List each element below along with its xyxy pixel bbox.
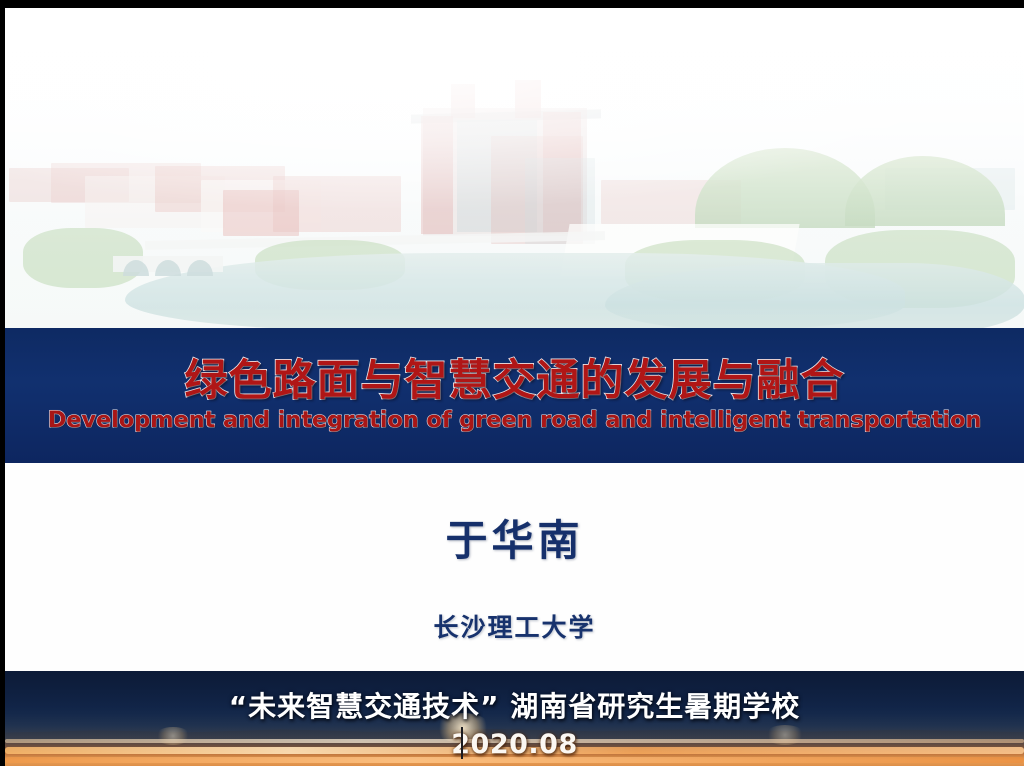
- event-title: “未来智慧交通技术” 湖南省研究生暑期学校: [5, 685, 1024, 725]
- night-highway-photo: “未来智慧交通技术” 湖南省研究生暑期学校 2020.08: [5, 671, 1024, 766]
- slide-canvas: 绿色路面与智慧交通的发展与融合 Development and integrat…: [5, 8, 1024, 766]
- campus-aerial-photo: [5, 8, 1024, 328]
- title-banner: 绿色路面与智慧交通的发展与融合 Development and integrat…: [5, 328, 1024, 463]
- photo-fade-overlay: [5, 8, 1024, 328]
- presentation-slide: 绿色路面与智慧交通的发展与融合 Development and integrat…: [0, 0, 1024, 766]
- slide-title-chinese: 绿色路面与智慧交通的发展与融合: [185, 359, 845, 404]
- text-cursor-artifact: [461, 727, 463, 759]
- presenter-name: 于华南: [5, 507, 1024, 568]
- presenter-affiliation: 长沙理工大学: [5, 608, 1024, 644]
- event-date: 2020.08: [5, 729, 1024, 760]
- presenter-section: 于华南 长沙理工大学: [5, 463, 1024, 671]
- slide-title-english: Development and integration of green roa…: [48, 408, 982, 433]
